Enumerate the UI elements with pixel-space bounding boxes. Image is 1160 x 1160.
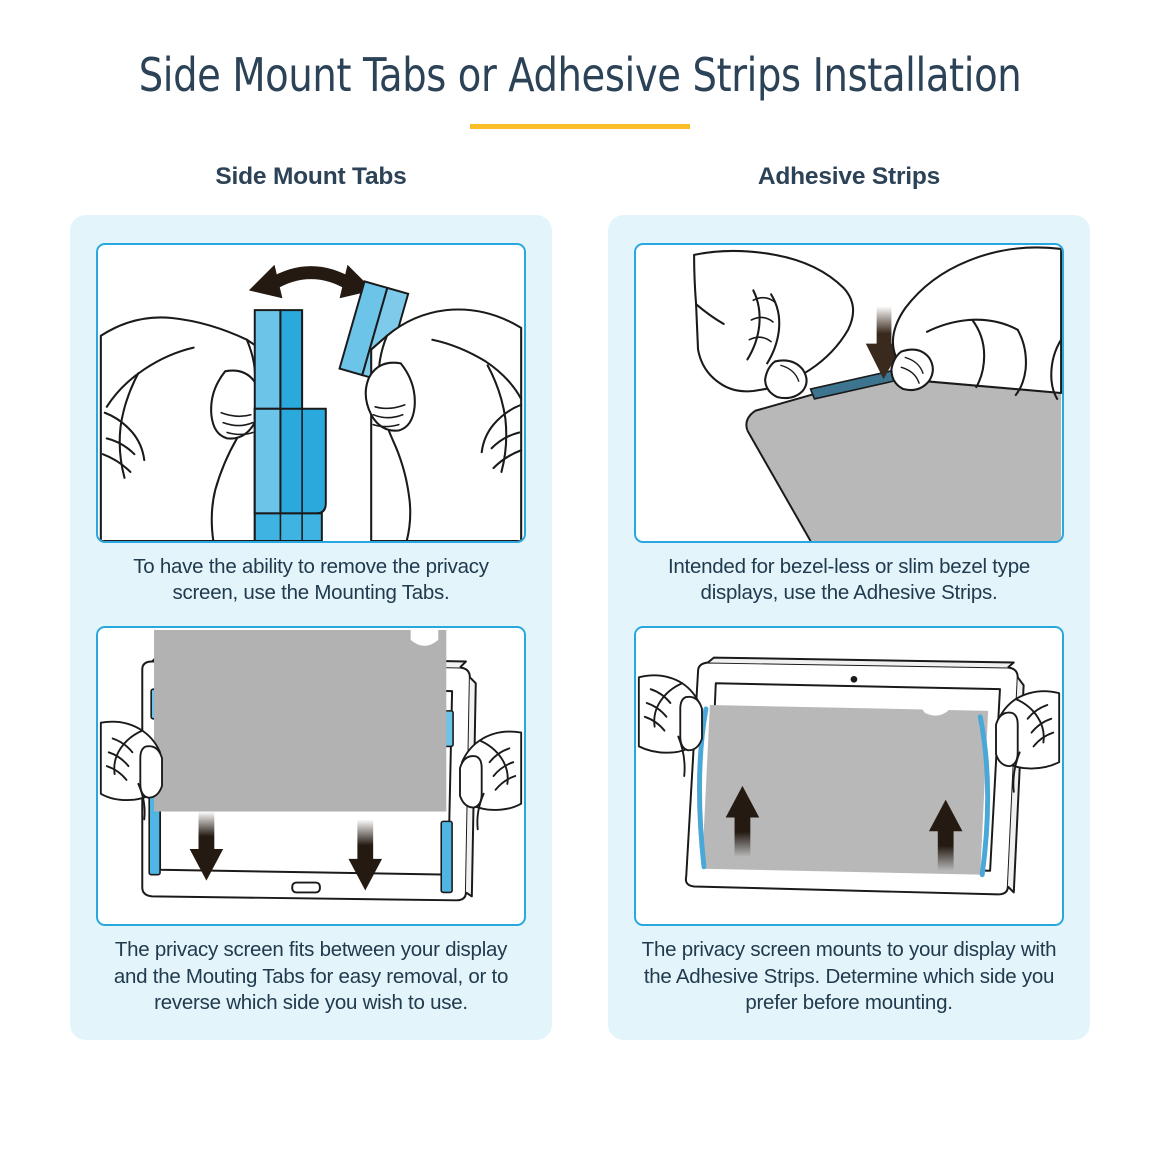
column-title-side-mount-tabs: Side Mount Tabs: [70, 163, 552, 191]
illustration-hands-peeling-mounting-tab: [96, 243, 526, 543]
column-side-mount-tabs: Side Mount Tabs: [70, 163, 552, 1040]
illustration-tablet-with-mounting-tabs: [96, 626, 526, 926]
page-title: Side Mount Tabs or Adhesive Strips Insta…: [41, 48, 1120, 102]
title-accent-bar: [470, 124, 690, 129]
instruction-columns: Side Mount Tabs: [0, 163, 1160, 1040]
panel-spacer: [96, 606, 526, 626]
camera-dot: [851, 676, 858, 683]
panel-adhesive-strips: Intended for bezel-less or slim bezel ty…: [608, 215, 1090, 1040]
caption-step-1-left: To have the ability to remove the privac…: [96, 543, 526, 606]
column-title-adhesive-strips: Adhesive Strips: [608, 163, 1090, 191]
privacy-screen-panel: [154, 630, 446, 812]
panel-side-mount-tabs: To have the ability to remove the privac…: [70, 215, 552, 1040]
caption-step-2-left: The privacy screen fits between your dis…: [96, 926, 526, 1016]
illustration-hands-pressing-adhesive-strip: [634, 243, 1064, 543]
double-arrow-icon: [249, 265, 373, 299]
panel-spacer: [634, 606, 1064, 626]
caption-step-2-right: The privacy screen mounts to your displa…: [634, 926, 1064, 1016]
mounting-tab-strip: [255, 310, 326, 541]
caption-step-1-right: Intended for bezel-less or slim bezel ty…: [634, 543, 1064, 606]
header: Side Mount Tabs or Adhesive Strips Insta…: [0, 0, 1160, 129]
home-button: [292, 883, 320, 893]
illustration-tablet-with-adhesive-strips: [634, 626, 1064, 926]
column-adhesive-strips: Adhesive Strips: [608, 163, 1090, 1040]
